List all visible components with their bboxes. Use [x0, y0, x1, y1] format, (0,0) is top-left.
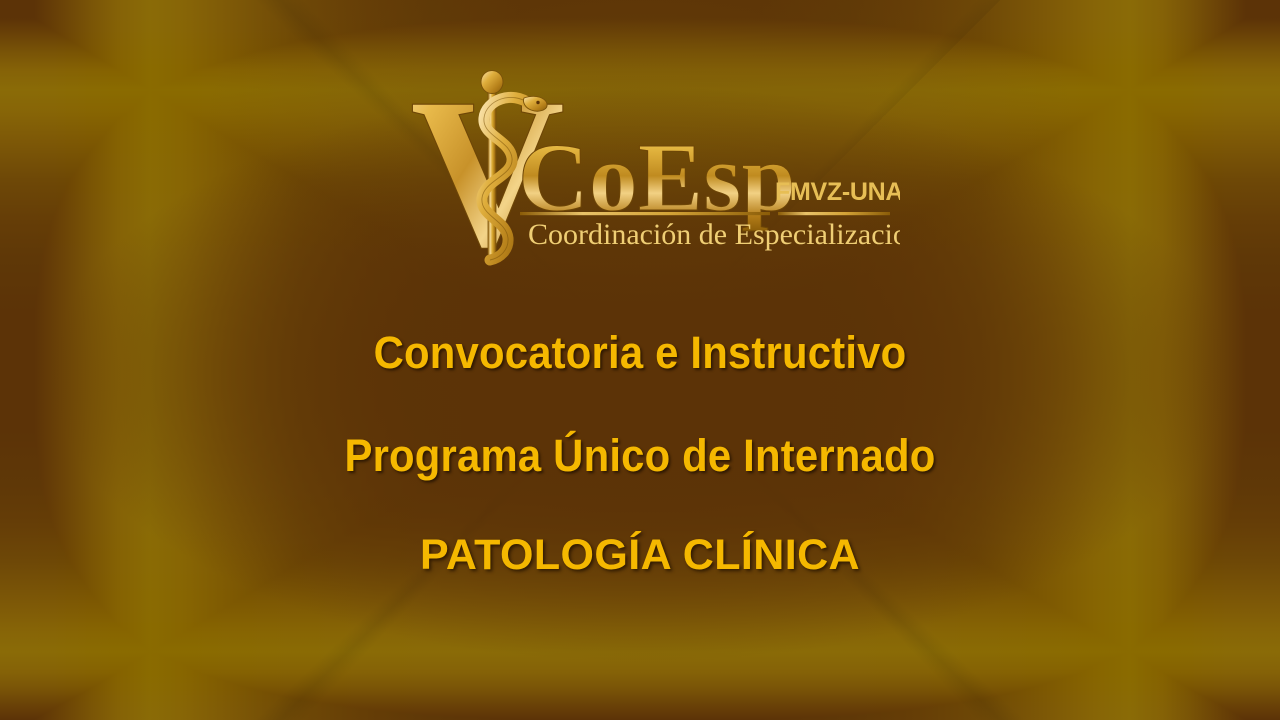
svg-text:Coordinación de Especializacio: Coordinación de Especializaciones	[528, 218, 900, 251]
presentation-slide: V CoEsp FMVZ-UNAM	[0, 0, 1280, 720]
logo-rule-right	[778, 212, 890, 215]
logo-subtitle: Coordinación de Especializaciones	[528, 218, 900, 251]
logo-institution: FMVZ-UNAM	[775, 178, 900, 206]
slide-title-block: Convocatoria e Instructivo Programa Únic…	[0, 330, 1280, 577]
vcoesp-logo: V CoEsp FMVZ-UNAM	[400, 60, 900, 270]
title-line-programa: Programa Único de Internado	[45, 433, 1235, 478]
logo-rule-left	[520, 212, 770, 215]
svg-text:CoEsp: CoEsp	[518, 124, 796, 232]
title-line-patologia: PATOLOGÍA CLÍNICA	[0, 534, 1280, 577]
svg-text:FMVZ-UNAM: FMVZ-UNAM	[775, 178, 900, 206]
logo-wordmark: CoEsp	[518, 124, 796, 232]
title-line-convocatoria: Convocatoria e Instructivo	[45, 330, 1235, 375]
